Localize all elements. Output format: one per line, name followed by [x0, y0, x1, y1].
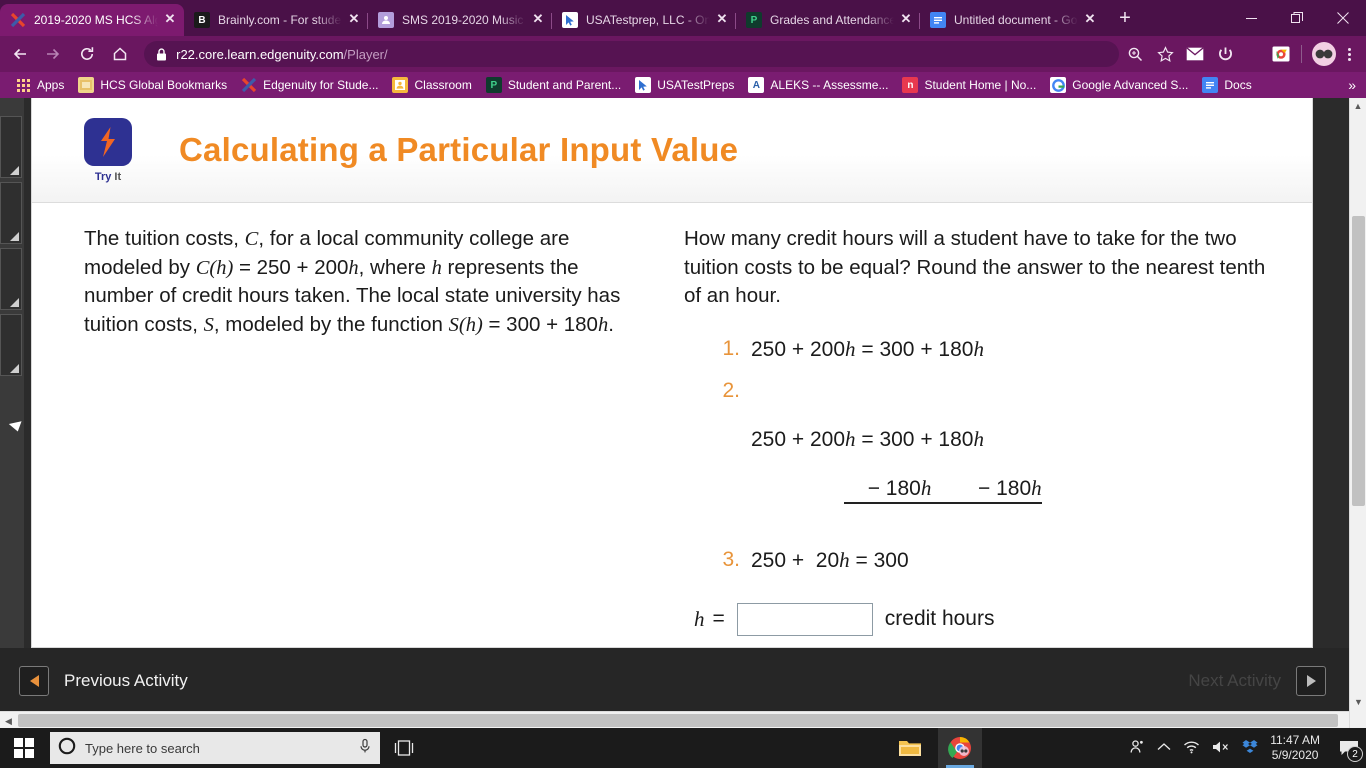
next-activity-label: Next Activity: [1188, 671, 1281, 691]
tab-close-icon[interactable]: ✕: [162, 12, 178, 28]
variable-s: S: [204, 314, 214, 336]
solution-steps: 1. 250 + 200h = 300 + 180h 2. 250 + 200h…: [684, 337, 1272, 573]
text-part: The tuition costs,: [84, 227, 245, 250]
question-column: How many credit hours will a student hav…: [672, 225, 1312, 636]
search-placeholder-text: Type here to search: [85, 741, 358, 756]
solution-step: 3. 250 + 20h = 300: [712, 548, 1272, 573]
bookmark-label: Student and Parent...: [508, 78, 621, 92]
system-tray: 11:47 AM 5/9/2020 2: [1129, 728, 1366, 768]
tab-close-icon[interactable]: ✕: [1082, 12, 1098, 28]
eq-part: − 180: [868, 477, 921, 500]
vertical-scroll-thumb[interactable]: [1352, 216, 1365, 506]
dropbox-icon[interactable]: [1242, 739, 1258, 757]
variable-h: h: [348, 257, 358, 279]
text-part: = 300 + 180: [483, 313, 598, 336]
bookmark-apps[interactable]: Apps: [8, 74, 71, 96]
microphone-icon[interactable]: [358, 738, 372, 759]
answer-units: credit hours: [885, 607, 995, 631]
page-corner-icon: [10, 298, 19, 307]
browser-tab[interactable]: 2019-2020 MS HCS Alg ✕: [0, 4, 184, 36]
address-bar[interactable]: r22.core.learn.edgenuity.com /Player/: [144, 41, 1119, 67]
edgenuity-x-icon: [241, 77, 257, 93]
url-host: r22.core.learn.edgenuity.com: [176, 47, 343, 62]
variable-h: h: [1031, 476, 1042, 500]
tab-title: 2019-2020 MS HCS Alg: [34, 13, 158, 27]
bookmark-label: Apps: [37, 78, 64, 92]
problem-statement-column: The tuition costs, C, for a local commun…: [32, 225, 672, 636]
horizontal-scrollbar[interactable]: ◀: [0, 711, 1349, 728]
slide-thumbnail[interactable]: [0, 248, 22, 310]
taskbar-pinned-apps: [468, 728, 982, 768]
it-word: It: [114, 171, 121, 183]
eq-part: 250 + 200: [751, 338, 845, 361]
nearpod-n-icon: n: [902, 77, 918, 93]
windows-taskbar: Type here to search: [0, 728, 1366, 768]
bookmark-classroom[interactable]: Classroom: [385, 74, 478, 96]
close-button[interactable]: [1320, 0, 1366, 36]
bookmark-label: USATestPreps: [657, 78, 734, 92]
triangle-left-icon: [30, 675, 39, 687]
lock-icon: [156, 48, 167, 61]
next-activity-button[interactable]: [1296, 666, 1326, 696]
previous-activity-button[interactable]: [19, 666, 49, 696]
page-corner-icon: [10, 166, 19, 175]
chrome-icon[interactable]: [938, 728, 982, 768]
text-part: , modeled by the function: [214, 313, 449, 336]
zoom-in-icon[interactable]: [1121, 40, 1149, 68]
tab-close-icon[interactable]: ✕: [898, 12, 914, 28]
browser-tab[interactable]: B Brainly.com - For stude ✕: [184, 4, 368, 36]
browser-title-bar: 2019-2020 MS HCS Alg ✕ B Brainly.com - F…: [0, 0, 1366, 36]
variable-h: h: [973, 337, 984, 361]
eq-part: = 300 + 180: [856, 338, 974, 361]
eq-part: 250 + 20: [751, 549, 839, 572]
equals-sign: =: [713, 607, 725, 631]
clock-date: 5/9/2020: [1270, 748, 1320, 763]
eq-part: − 180: [978, 477, 1031, 500]
chrome-app-icon[interactable]: [1267, 40, 1295, 68]
mouse-cursor-icon: [7, 417, 21, 431]
task-view-icon[interactable]: [380, 728, 428, 768]
variable-h: h: [839, 548, 850, 572]
volume-muted-icon[interactable]: [1212, 740, 1230, 757]
page-corner-icon: [10, 364, 19, 373]
vertical-scrollbar[interactable]: ▲ ▼: [1349, 98, 1366, 728]
bookmark-star-icon[interactable]: [1151, 40, 1179, 68]
chrome-menu-icon[interactable]: [1338, 40, 1360, 68]
step-number: 3.: [712, 548, 740, 573]
text-part: , where: [359, 256, 432, 279]
google-g-icon: [1050, 77, 1066, 93]
taskbar-clock[interactable]: 11:47 AM 5/9/2020: [1270, 733, 1320, 763]
search-input[interactable]: Type here to search: [50, 732, 380, 764]
bookmark-usatestpreps[interactable]: USATestPreps: [628, 74, 741, 96]
text-part: = 250 + 200: [233, 256, 348, 279]
answer-row: h = credit hours: [694, 603, 1272, 636]
bookmark-hcs-global[interactable]: HCS Global Bookmarks: [71, 74, 234, 96]
bookmark-label: Edgenuity for Stude...: [263, 78, 378, 92]
variable-h: h: [432, 257, 442, 279]
folder-icon: [78, 77, 94, 93]
lesson-stage: Try It Calculating a Particular Input Va…: [31, 98, 1313, 648]
page-corner-icon: [10, 232, 19, 241]
edgenuity-x-icon: [10, 12, 26, 28]
variable-h: h: [921, 476, 932, 500]
bookmarks-bar: Apps HCS Global Bookmarks Edgenuity for …: [0, 72, 1366, 98]
notification-count: 2: [1347, 746, 1363, 762]
step-number: 2.: [712, 379, 740, 528]
scroll-down-icon[interactable]: ▼: [1350, 694, 1366, 711]
bookmark-label: ALEKS -- Assessme...: [770, 78, 888, 92]
bookmark-student-home[interactable]: n Student Home | No...: [895, 74, 1043, 96]
file-explorer-icon[interactable]: [888, 728, 932, 768]
powerschool-p-icon: P: [486, 77, 502, 93]
tab-close-icon[interactable]: ✕: [530, 12, 546, 28]
mail-icon[interactable]: [1181, 40, 1209, 68]
bookmark-label: Classroom: [414, 78, 471, 92]
slide-thumbnail[interactable]: [0, 182, 22, 244]
google-docs-icon: [1202, 77, 1218, 93]
forward-button[interactable]: [40, 39, 68, 69]
subtraction-line: − 180h − 180h: [844, 476, 1041, 504]
tab-title: SMS 2019-2020 Music A: [402, 13, 526, 27]
function-s-of-h: S(h): [449, 314, 483, 336]
lightning-bolt-icon: [84, 118, 132, 166]
step-equation: 250 + 20h = 300: [751, 548, 909, 573]
usatestprep-cursor-icon: [635, 77, 651, 93]
windows-start-icon[interactable]: [0, 728, 48, 768]
answer-variable-h: h: [694, 607, 705, 632]
back-button[interactable]: [6, 39, 34, 69]
answer-input[interactable]: [737, 603, 873, 636]
browser-toolbar: r22.core.learn.edgenuity.com /Player/: [0, 36, 1366, 72]
new-tab-button[interactable]: +: [1110, 4, 1140, 34]
tab-title: Grades and Attendance: [770, 13, 894, 27]
step-equation: 250 + 200h = 300 + 180h: [751, 337, 984, 362]
tab-close-icon[interactable]: ✕: [346, 12, 362, 28]
variable-c: C: [245, 228, 259, 250]
variable-h: h: [845, 427, 856, 451]
profile-avatar[interactable]: [1312, 42, 1336, 66]
action-center-icon[interactable]: 2: [1336, 728, 1362, 768]
variable-h: h: [973, 427, 984, 451]
bookmark-student-parent[interactable]: P Student and Parent...: [479, 74, 628, 96]
lesson-slide-rail: [0, 98, 24, 728]
minimize-button[interactable]: [1228, 0, 1274, 36]
page-title: Calculating a Particular Input Value: [179, 131, 738, 169]
usatestprep-cursor-icon: [562, 12, 578, 28]
powerschool-p-icon: P: [746, 12, 762, 28]
try-it-caption: Try It: [80, 171, 136, 183]
variable-h: h: [845, 337, 856, 361]
triangle-right-icon: [1307, 675, 1316, 687]
bookmarks-overflow-button[interactable]: »: [1348, 77, 1356, 93]
window-controls: [1228, 0, 1366, 36]
wifi-icon[interactable]: [1183, 740, 1200, 757]
page-viewport: Try It Calculating a Particular Input Va…: [0, 98, 1366, 728]
bookmark-label: Student Home | No...: [924, 78, 1036, 92]
tab-strip: 2019-2020 MS HCS Alg ✕ B Brainly.com - F…: [0, 0, 1140, 36]
eq-gap: [931, 477, 978, 500]
classroom-icon: [392, 77, 408, 93]
lesson-body: The tuition costs, C, for a local commun…: [32, 203, 1312, 636]
brainly-b-icon: B: [194, 12, 210, 28]
classroom-person-icon: [378, 12, 394, 28]
text-part: .: [608, 313, 614, 336]
bookmark-label: Google Advanced S...: [1072, 78, 1188, 92]
eq-part: = 300 + 180: [856, 428, 974, 451]
slide-thumbnail[interactable]: [0, 314, 22, 376]
bookmark-edgenuity[interactable]: Edgenuity for Stude...: [234, 74, 385, 96]
cortana-circle-icon: [58, 737, 76, 760]
problem-statement: The tuition costs, C, for a local commun…: [84, 225, 652, 339]
toolbar-divider: [1301, 45, 1302, 63]
aleks-a-icon: A: [748, 77, 764, 93]
apps-grid-icon: [15, 77, 31, 93]
question-text: How many credit hours will a student hav…: [684, 225, 1272, 311]
variable-h: h: [598, 314, 608, 336]
step-number: 1.: [712, 337, 740, 362]
activity-navigation-bar: Previous Activity Next Activity: [0, 648, 1366, 714]
function-c-of-h: C(h): [196, 257, 234, 279]
lesson-header: Try It Calculating a Particular Input Va…: [32, 98, 1312, 203]
eq-part: 250 + 200: [751, 428, 845, 451]
next-activity-group: Next Activity: [1188, 666, 1366, 696]
bookmark-google-advanced-search[interactable]: Google Advanced S...: [1043, 74, 1195, 96]
try-word: Try: [95, 171, 112, 183]
reload-button[interactable]: [73, 39, 101, 69]
google-docs-icon: [930, 12, 946, 28]
try-it-badge: Try It: [80, 118, 136, 183]
scroll-left-icon[interactable]: ◀: [0, 711, 17, 729]
browser-tab[interactable]: P Grades and Attendance ✕: [736, 4, 920, 36]
eq-part: = 300: [850, 549, 909, 572]
browser-tab[interactable]: SMS 2019-2020 Music A ✕: [368, 4, 552, 36]
clock-time: 11:47 AM: [1270, 733, 1320, 748]
solution-step: 2. 250 + 200h = 300 + 180h − 180h − 180h: [712, 379, 1272, 528]
home-button[interactable]: [107, 39, 135, 69]
maximize-button[interactable]: [1274, 0, 1320, 36]
scroll-up-icon[interactable]: ▲: [1350, 98, 1366, 115]
browser-window: 2019-2020 MS HCS Alg ✕ B Brainly.com - F…: [0, 0, 1366, 768]
bookmark-label: Docs: [1224, 78, 1251, 92]
tab-title: USATestprep, LLC - Onli: [586, 13, 710, 27]
people-icon[interactable]: [1129, 739, 1145, 758]
show-hidden-icons-chevron[interactable]: [1157, 741, 1171, 755]
browser-tab[interactable]: USATestprep, LLC - Onli ✕: [552, 4, 736, 36]
previous-activity-label[interactable]: Previous Activity: [64, 671, 188, 691]
tab-close-icon[interactable]: ✕: [714, 12, 730, 28]
horizontal-scroll-thumb[interactable]: [18, 714, 1338, 727]
bookmark-aleks[interactable]: A ALEKS -- Assessme...: [741, 74, 895, 96]
tab-title: Brainly.com - For stude: [218, 13, 342, 27]
toolbar-actions: [1119, 40, 1366, 68]
solution-step: 1. 250 + 200h = 300 + 180h: [712, 337, 1272, 362]
bookmark-docs[interactable]: Docs: [1195, 74, 1258, 96]
slide-thumbnail[interactable]: [0, 116, 22, 178]
power-icon[interactable]: [1211, 40, 1239, 68]
url-path: /Player/: [344, 47, 388, 62]
browser-tab[interactable]: Untitled document - Go ✕: [920, 4, 1104, 36]
tab-title: Untitled document - Go: [954, 13, 1078, 27]
bookmark-label: HCS Global Bookmarks: [100, 78, 227, 92]
step-equation: 250 + 200h = 300 + 180h − 180h − 180h: [751, 379, 1042, 528]
equation-line: 250 + 200h = 300 + 180h: [751, 427, 1042, 452]
